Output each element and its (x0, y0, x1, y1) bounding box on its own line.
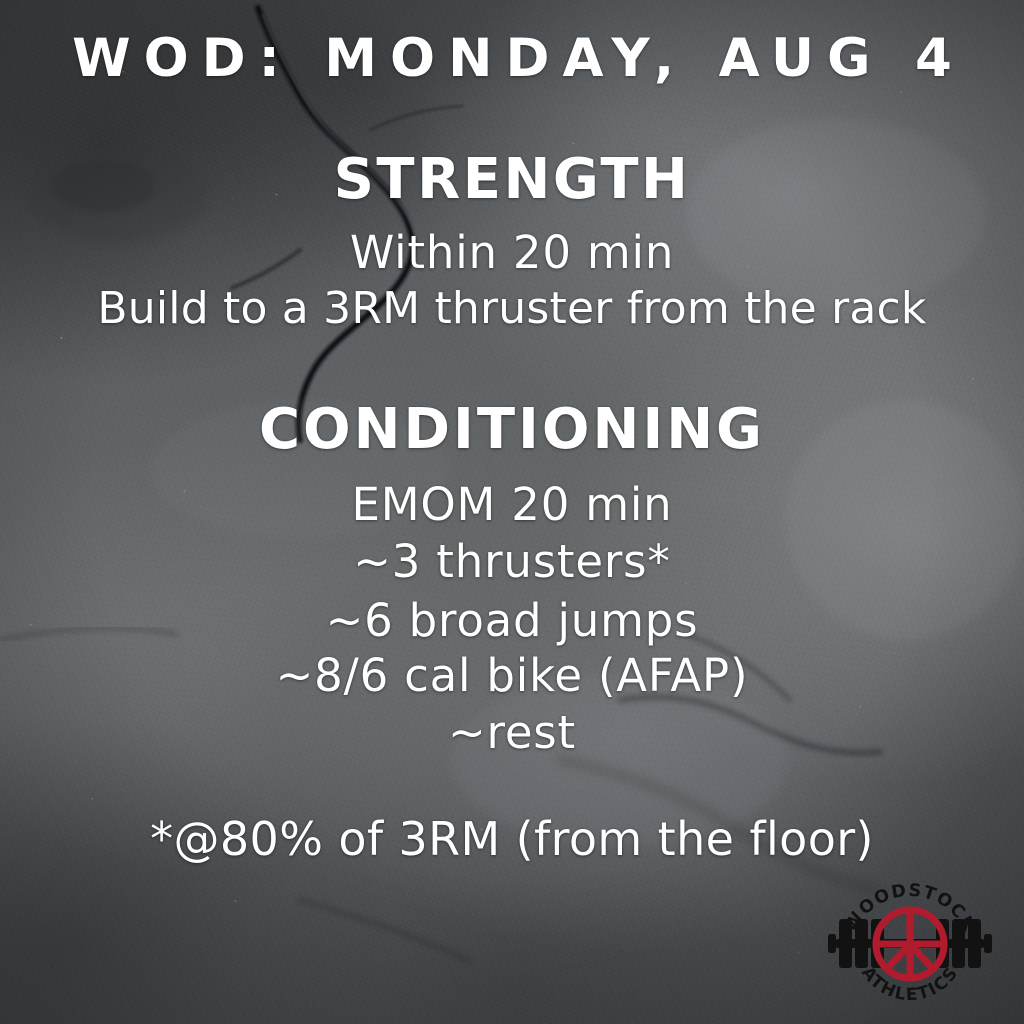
conditioning-line-5: ~rest (0, 706, 1024, 759)
conditioning-line-1: EMOM 20 min (0, 478, 1024, 531)
footnote-text: *@80% of 3RM (from the floor) (0, 812, 1024, 866)
conditioning-line-4: ~8/6 cal bike (AFAP) (0, 649, 1024, 702)
woodstock-athletics-logo: WOODSTOCK ATHLETICS (814, 882, 1006, 1006)
section-heading-strength: STRENGTH (0, 147, 1024, 212)
strength-line-1: Within 20 min (0, 226, 1024, 279)
strength-line-2: Build to a 3RM thruster from the rack (0, 283, 1024, 334)
poster-title: WOD: MONDAY, AUG 4 (0, 28, 1024, 89)
peace-sign-icon (876, 910, 944, 978)
section-heading-conditioning: CONDITIONING (0, 397, 1024, 462)
poster-text-content: WOD: MONDAY, AUG 4 STRENGTH Within 20 mi… (0, 0, 1024, 1024)
conditioning-line-2: ~3 thrusters* (0, 535, 1024, 588)
wod-poster: WOD: MONDAY, AUG 4 STRENGTH Within 20 mi… (0, 0, 1024, 1024)
conditioning-line-3: ~6 broad jumps (0, 594, 1024, 647)
